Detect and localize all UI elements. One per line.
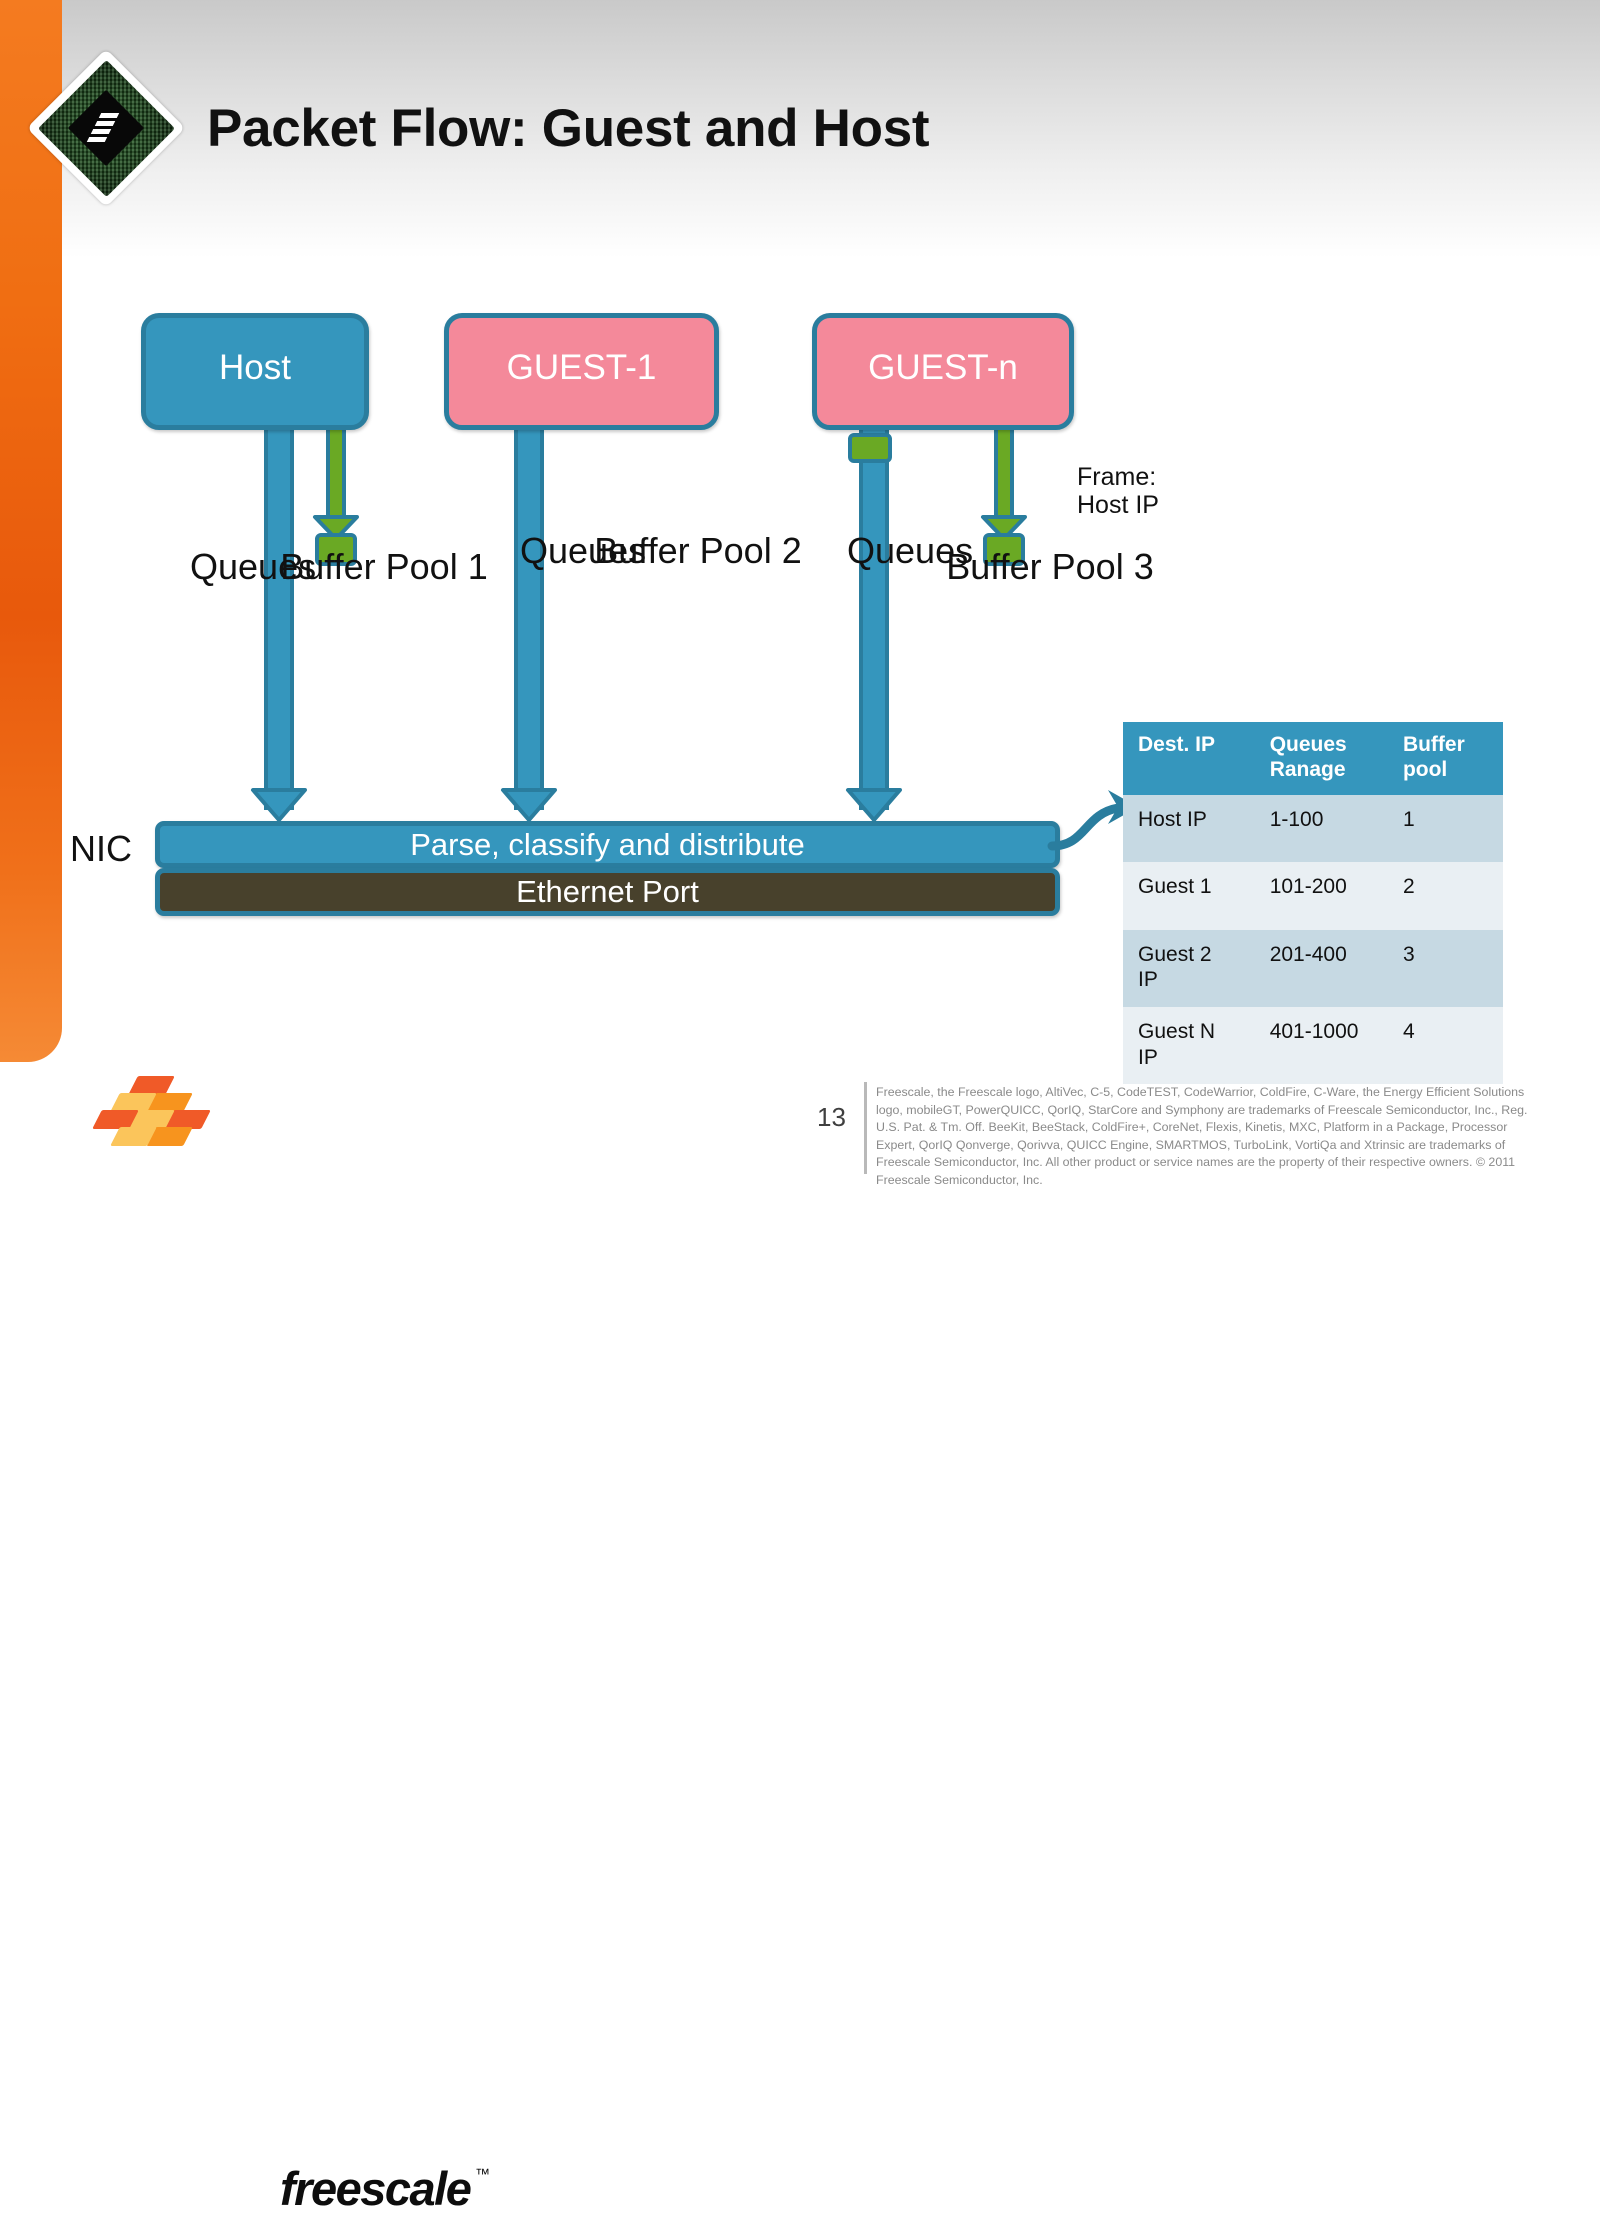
legal-trademark-text: Freescale, the Freescale logo, AltiVec, …	[876, 1084, 1536, 1190]
queue-pipe-guest1	[514, 428, 544, 810]
cell-dest-ip-line1: Guest N	[1138, 1019, 1247, 1045]
freescale-trademark-symbol: ™	[475, 2166, 490, 2183]
ethernet-port-bar[interactable]: Ethernet Port	[155, 868, 1060, 916]
guest1-box[interactable]: GUEST-1	[444, 313, 719, 430]
cell-dest-ip: Host IP	[1123, 795, 1255, 863]
cell-buffer-pool: 3	[1388, 930, 1503, 1007]
queue-pipe-guestn	[859, 428, 889, 810]
cell-buffer-pool: 2	[1388, 862, 1503, 930]
table-header-row: Dest. IP Queues Ranage Buffer pool	[1123, 722, 1503, 795]
buffer-pool-2-label: Buffer Pool 2	[593, 530, 803, 572]
parse-bar-label: Parse, classify and distribute	[410, 827, 805, 863]
buffer-pipe-guestn	[994, 428, 1014, 526]
queues-label-guestn: Queues	[847, 530, 957, 572]
cell-queues-range: 101-200	[1255, 862, 1388, 930]
table-row[interactable]: Guest 2 IP 201-400 3	[1123, 930, 1503, 1007]
cell-buffer-pool: 1	[1388, 795, 1503, 863]
host-box[interactable]: Host	[141, 313, 369, 430]
table-header-queues-range: Queues Ranage	[1255, 722, 1388, 795]
parse-classify-distribute-bar[interactable]: Parse, classify and distribute	[155, 821, 1060, 868]
frame-host-ip-note: Frame: Host IP	[1077, 464, 1159, 519]
cell-buffer-pool: 4	[1388, 1007, 1503, 1084]
table-row[interactable]: Guest 1 101-200 2	[1123, 862, 1503, 930]
nic-label: NIC	[70, 828, 132, 870]
cell-dest-ip: Guest 1	[1123, 862, 1255, 930]
cell-queues-range: 1-100	[1255, 795, 1388, 863]
cell-dest-ip-line1: Guest 2	[1138, 942, 1247, 968]
cell-dest-ip: Guest N IP	[1123, 1007, 1255, 1084]
table-header-queues-line1: Queues	[1270, 733, 1380, 758]
freescale-footer-logo: freescale ™	[105, 1068, 395, 1160]
table-header-buffer-pool: Buffer pool	[1388, 722, 1503, 795]
cell-dest-ip: Guest 2 IP	[1123, 930, 1255, 1007]
buffer-pipe-host	[326, 428, 346, 526]
queue-arrowhead-guest1	[499, 788, 559, 822]
green-frame-marker-guestn	[848, 433, 892, 463]
frame-note-line-1: Frame:	[1077, 464, 1159, 492]
frame-note-line-2: Host IP	[1077, 492, 1159, 520]
page-title: Packet Flow: Guest and Host	[207, 98, 929, 159]
guestn-box-label: GUEST-n	[868, 348, 1018, 388]
legal-divider	[864, 1082, 867, 1174]
buffer-pool-1-label: Buffer Pool 1	[279, 546, 489, 588]
logo-chevron-mark-icon	[88, 111, 124, 145]
guest1-box-label: GUEST-1	[507, 348, 657, 388]
cell-dest-ip-line2: IP	[1138, 967, 1247, 993]
buffer-pool-3-label: Buffer Pool 3	[945, 546, 1155, 588]
table-header-buffer-line1: Buffer	[1403, 733, 1495, 758]
queue-arrowhead-host	[249, 788, 309, 822]
table-header-queues-line2: Ranage	[1270, 758, 1380, 783]
table-header-buffer-line2: pool	[1403, 758, 1495, 783]
queue-arrowhead-guestn	[844, 788, 904, 822]
host-box-label: Host	[219, 348, 291, 388]
guestn-box[interactable]: GUEST-n	[812, 313, 1074, 430]
cell-queues-range: 201-400	[1255, 930, 1388, 1007]
table-header-dest-ip: Dest. IP	[1123, 722, 1255, 795]
freescale-diamond-logo-icon	[22, 44, 190, 212]
cell-dest-ip-line2: IP	[1138, 1045, 1247, 1071]
ethernet-bar-label: Ethernet Port	[516, 874, 699, 910]
cell-queues-range: 401-1000	[1255, 1007, 1388, 1084]
table-row[interactable]: Host IP 1-100 1	[1123, 795, 1503, 863]
table-row[interactable]: Guest N IP 401-1000 4	[1123, 1007, 1503, 1084]
page-number: 13	[817, 1102, 846, 1133]
queue-mapping-table: Dest. IP Queues Ranage Buffer pool Host …	[1123, 722, 1503, 1084]
slide-canvas: Packet Flow: Guest and Host Host GUEST-1…	[0, 0, 1600, 1200]
freescale-wordmark: freescale	[280, 2161, 470, 2216]
queue-pipe-host	[264, 428, 294, 810]
